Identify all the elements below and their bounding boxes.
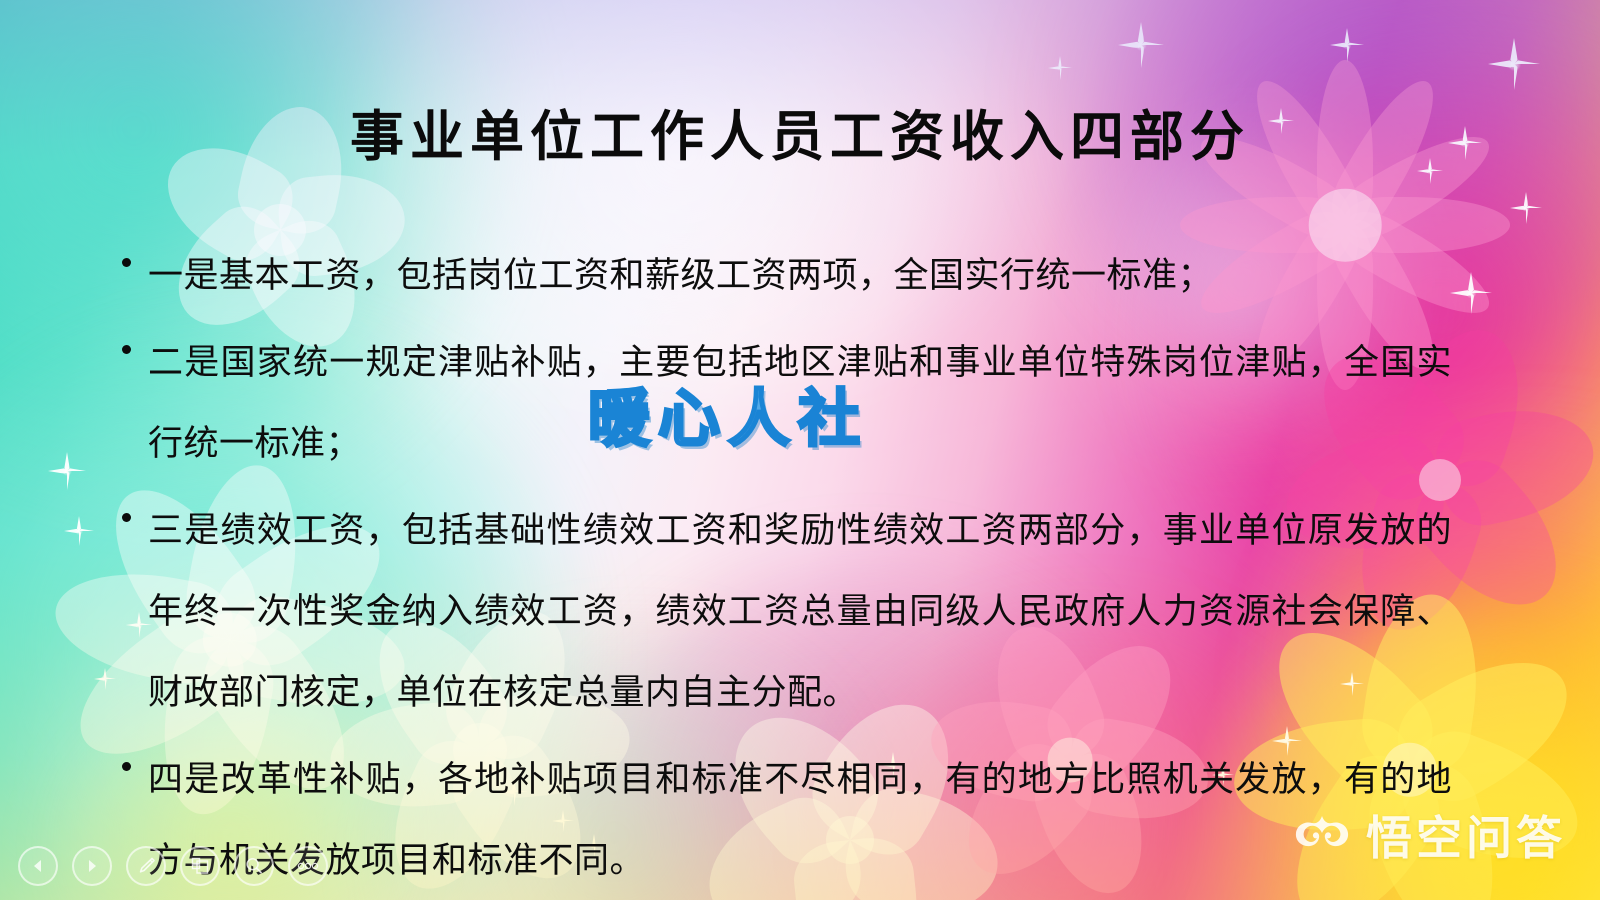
bullet-text-4: 四是改革性补贴，各地补贴项目和标准不尽相同，有的地方比照机关发放，有的地方与机关…: [148, 740, 1452, 900]
bullet-text-1: 一是基本工资，包括岗位工资和薪级工资两项，全国实行统一标准；: [148, 236, 1452, 317]
presentation-slide: 事业单位工作人员工资收入四部分 一是基本工资，包括岗位工资和薪级工资两项，全国实…: [0, 0, 1600, 900]
slide-title: 事业单位工作人员工资收入四部分: [0, 92, 1600, 171]
previous-slide-button[interactable]: [18, 846, 58, 886]
magnifier-icon: [243, 855, 265, 877]
cloud-logo-icon: [1292, 812, 1352, 859]
brand-name: 悟空问答: [1366, 802, 1566, 868]
bullet-item-1: 一是基本工资，包括岗位工资和薪级工资两项，全国实行统一标准；: [122, 236, 1452, 317]
previous-triangle-icon: [29, 857, 47, 875]
author-watermark: 暖心人社: [588, 368, 868, 458]
bullet-dot-icon: [122, 740, 148, 771]
play-button[interactable]: [72, 846, 112, 886]
bullet-text-3: 三是绩效工资，包括基础性绩效工资和奖励性绩效工资两部分，事业单位原发放的年终一次…: [148, 491, 1452, 734]
bullet-dot-icon: [122, 236, 148, 267]
slide-body: 一是基本工资，包括岗位工资和薪级工资两项，全国实行统一标准； 二是国家统一规定津…: [122, 236, 1452, 900]
bullet-dot-icon: [122, 491, 148, 522]
more-button[interactable]: [288, 846, 328, 886]
more-dots-icon: [296, 861, 320, 871]
player-toolbar[interactable]: [18, 846, 328, 886]
pen-button[interactable]: [126, 846, 166, 886]
zoom-button[interactable]: [234, 846, 274, 886]
layout-button[interactable]: [180, 846, 220, 886]
play-triangle-icon: [83, 857, 101, 875]
bullet-item-3: 三是绩效工资，包括基础性绩效工资和奖励性绩效工资两部分，事业单位原发放的年终一次…: [122, 491, 1452, 734]
layout-grid-icon: [189, 855, 211, 877]
bullet-dot-icon: [122, 323, 148, 354]
brand-watermark: 悟空问答: [1292, 802, 1566, 868]
pen-icon: [135, 855, 157, 877]
